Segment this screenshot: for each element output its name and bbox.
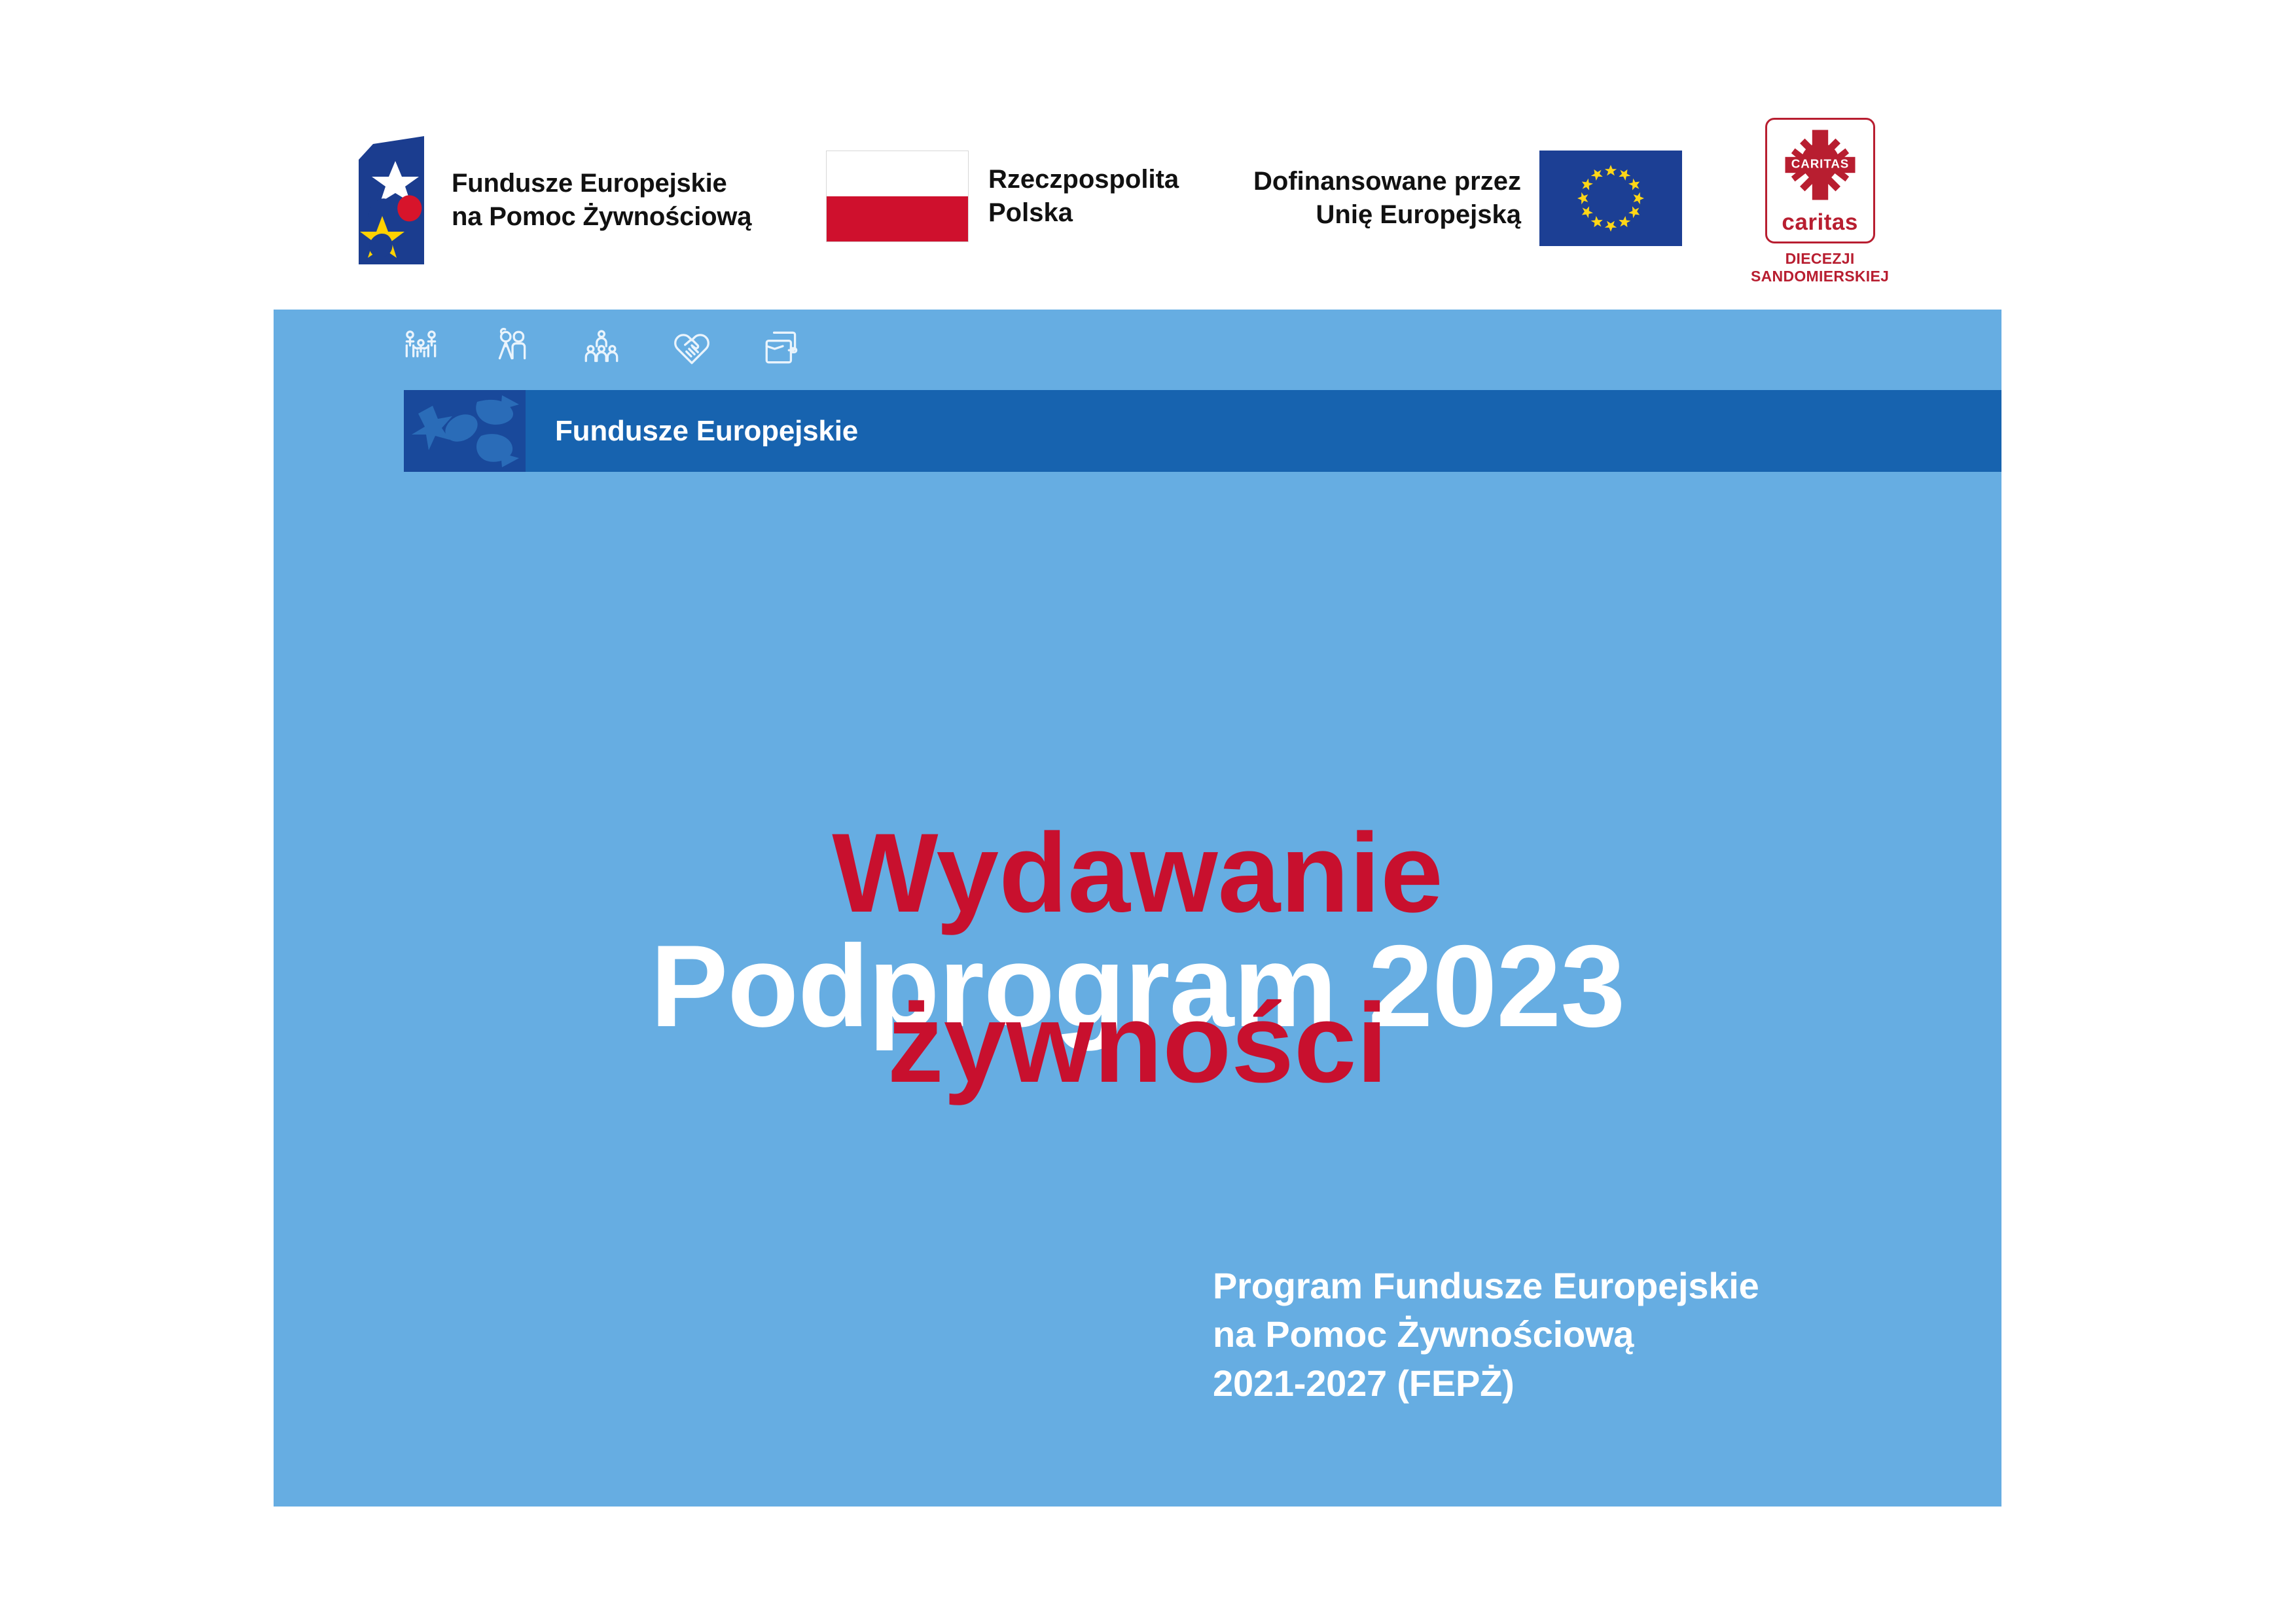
pictogram-row <box>399 326 804 369</box>
caritas-wordmark: caritas <box>1782 209 1857 236</box>
family-holding-hands-icon <box>399 326 442 369</box>
fundusze-europejskie-bar-label: Fundusze Europejskie <box>555 415 858 448</box>
two-people-icon <box>490 326 533 369</box>
fe-stars-logo-icon <box>359 136 432 264</box>
logo-rzeczpospolita-polska: Rzeczpospolita Polska <box>826 151 1179 242</box>
page-title-red-line2: żywności <box>274 987 2001 1099</box>
fe-stars-mark-icon <box>404 390 526 472</box>
poland-flag-icon <box>826 151 969 242</box>
caritas-card: CARITAS caritas <box>1765 118 1875 243</box>
group-of-people-icon <box>580 326 623 369</box>
heart-handshake-icon <box>670 326 713 369</box>
wallet-icon <box>761 326 804 369</box>
caritas-diocese-label: DIECEZJI SANDOMIERSKIEJ <box>1751 250 1889 285</box>
header-logo-strip: Fundusze Europejskie na Pomoc Żywnościow… <box>0 118 2296 301</box>
slide-panel: Fundusze Europejskie Podprogram 2023 Wyd… <box>274 310 2001 1507</box>
logo-unia-europejska-label: Dofinansowane przez Unię Europejską <box>1253 165 1521 232</box>
svg-text:CARITAS: CARITAS <box>1791 157 1849 171</box>
logo-unia-europejska: Dofinansowane przez Unię Europejską <box>1253 151 1682 246</box>
logo-fundusze-europejskie: Fundusze Europejskie na Pomoc Żywnościow… <box>359 136 751 264</box>
logo-fundusze-europejskie-label: Fundusze Europejskie na Pomoc Żywnościow… <box>452 167 751 234</box>
caritas-cross-icon: CARITAS <box>1780 125 1860 208</box>
fundusze-europejskie-bar: Fundusze Europejskie <box>404 390 2001 472</box>
program-footer-text: Program Fundusze Europejskie na Pomoc Ży… <box>1213 1262 1759 1408</box>
logo-rzeczpospolita-polska-label: Rzeczpospolita Polska <box>988 163 1179 230</box>
page-title-red-line1: Wydawanie <box>274 817 2001 929</box>
logo-caritas-diecezji-sandomierskiej: CARITAS caritas DIECEZJI SANDOMIERSKIEJ <box>1751 118 1889 285</box>
eu-flag-icon <box>1539 151 1682 246</box>
